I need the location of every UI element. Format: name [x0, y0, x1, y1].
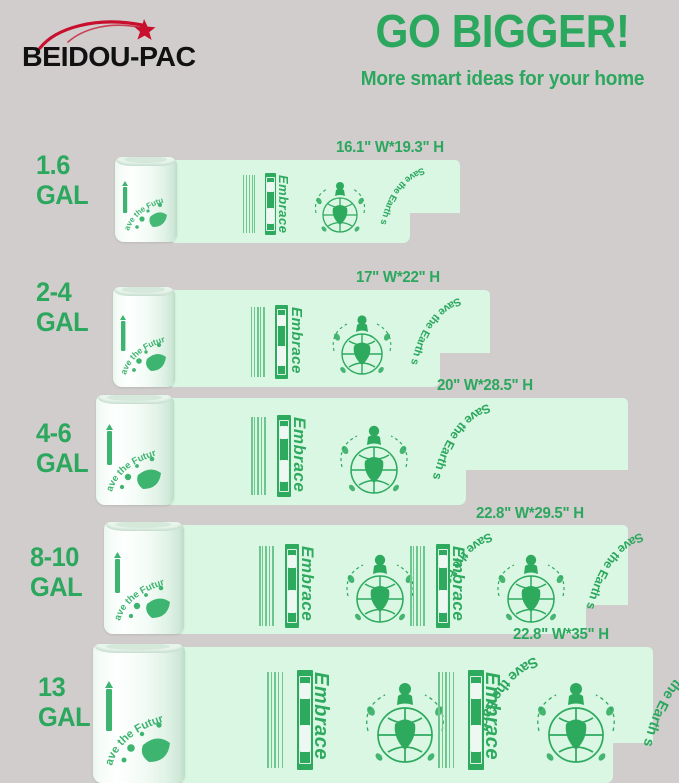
brand-script-text: Embrace	[289, 417, 309, 492]
page-subheadline: More smart ideas for your home	[339, 68, 667, 91]
product-label-strip	[265, 173, 276, 235]
save-the-earth-text: Save the Earth s	[414, 399, 500, 491]
roll-print-artwork: ave the Future	[93, 644, 185, 783]
save-the-earth-text: Save the Earth s	[367, 163, 433, 231]
roll-print-artwork: ave the Future	[104, 522, 184, 634]
barcode-icon	[438, 672, 456, 768]
dimension-label: 22.8" W*35" H	[513, 626, 609, 644]
svg-text:Save the Earth s: Save the Earth s	[640, 653, 679, 748]
barcode-icon	[410, 546, 426, 626]
bag-roll-cylinder: ave the Future	[93, 644, 185, 783]
bag-roll-cylinder: ave the Future	[115, 157, 177, 242]
earth-globe-icon	[319, 307, 405, 381]
brand-script-text: Embrace	[448, 546, 468, 621]
earth-globe-icon	[325, 417, 423, 501]
bag-roll-product: Embrace	[104, 522, 634, 634]
barcode-icon	[259, 546, 275, 626]
bag-roll-product: Embrace	[113, 287, 443, 387]
size-label: 13 GAL	[38, 672, 90, 732]
bag-roll-product: Embrace	[93, 644, 653, 783]
bag-roll-product: Embrace	[115, 157, 415, 242]
size-label: 1.6 GAL	[36, 150, 88, 210]
brand-script-text: Embrace	[276, 175, 291, 233]
svg-text:Save the Earth s: Save the Earth s	[378, 165, 427, 226]
brand-logo: BEIDOU-PAC	[22, 18, 237, 73]
bag-roll-cylinder: ave the Future	[113, 287, 175, 387]
earth-globe-icon	[483, 546, 579, 630]
brand-script-text: Embrace	[309, 672, 332, 760]
page-headline: GO BIGGER!	[344, 8, 661, 54]
bag-roll-cylinder: ave the Future	[96, 395, 174, 505]
brand-script-text: Embrace	[480, 672, 503, 760]
roll-print-artwork: ave the Future	[96, 395, 174, 505]
barcode-icon	[267, 672, 285, 768]
dimension-label: 20" W*28.5" H	[437, 377, 533, 395]
dimension-label: 22.8" W*29.5" H	[476, 505, 584, 523]
barcode-icon	[243, 175, 257, 233]
save-the-earth-text: Save the Earth s	[622, 652, 679, 762]
size-label: 8-10 GAL	[30, 542, 82, 602]
barcode-icon	[251, 307, 266, 377]
dimension-label: 16.1" W*19.3" H	[336, 139, 444, 157]
brand-name: BEIDOU-PAC	[22, 41, 196, 73]
svg-text:Save the Earth s: Save the Earth s	[430, 401, 493, 482]
size-label: 2-4 GAL	[36, 277, 88, 337]
brand-script-text: Embrace	[288, 307, 305, 374]
product-label-strip	[275, 305, 288, 379]
infographic-page: BEIDOU-PAC GO BIGGER! More smart ideas f…	[0, 0, 679, 783]
brand-script-text: Embrace	[297, 546, 317, 621]
dimension-label: 17" W*22" H	[356, 269, 440, 287]
roll-print-artwork: ave the Future	[115, 157, 177, 242]
bag-roll-product: Embrace	[96, 395, 566, 505]
svg-text:Save the Earth s: Save the Earth s	[584, 530, 646, 611]
svg-text:Save the Earth s: Save the Earth s	[408, 295, 463, 366]
barcode-icon	[251, 417, 267, 495]
save-the-earth-text: Save the Earth s	[569, 528, 653, 620]
roll-print-artwork: ave the Future	[113, 287, 175, 387]
earth-globe-icon	[303, 175, 377, 237]
size-label: 4-6 GAL	[36, 418, 88, 478]
bag-roll-cylinder: ave the Future	[104, 522, 184, 634]
earth-globe-icon	[520, 672, 632, 772]
save-the-earth-text: Save the Earth s	[395, 293, 471, 373]
